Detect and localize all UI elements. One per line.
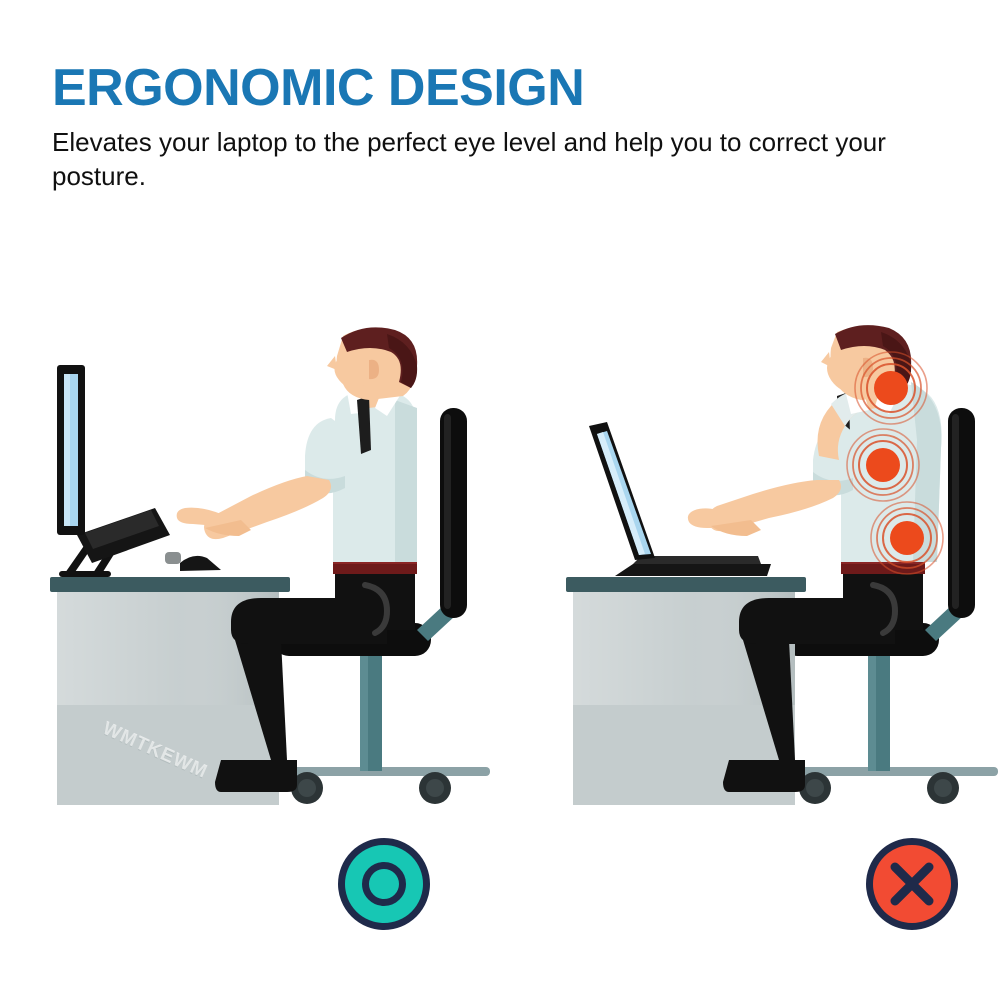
chair-base-bar [290, 767, 490, 776]
hand [177, 508, 221, 526]
mouse-body [180, 556, 221, 571]
chair-backrest-highlight [952, 414, 959, 609]
hip [843, 570, 923, 630]
laptop-on-stand [57, 365, 170, 577]
chair-base-bar [798, 767, 998, 776]
scene-bad-posture [555, 330, 1000, 820]
nose [327, 356, 337, 370]
correct-posture-illustration [35, 330, 505, 820]
laptop-screen-glare [64, 374, 70, 526]
nose [821, 352, 831, 367]
target-circle-icon [362, 862, 406, 906]
x-mark-icon [885, 857, 939, 911]
page-subtitle: Elevates your laptop to the perfect eye … [52, 126, 932, 194]
torso-shirt-shadow [395, 400, 417, 562]
correct-badge [338, 838, 430, 930]
chair-cylinder-highlight [360, 643, 368, 771]
header: ERGONOMIC DESIGN Elevates your laptop to… [52, 62, 952, 194]
shoe [215, 760, 297, 792]
stand-foot [59, 571, 111, 577]
infographic-poster: ERGONOMIC DESIGN Elevates your laptop to… [0, 0, 1000, 1000]
chair-cylinder-highlight [868, 643, 876, 771]
laptop-base [615, 564, 771, 576]
pain-core [874, 371, 908, 405]
desk-top [50, 577, 290, 592]
mouse-cable-knot [165, 552, 181, 564]
pain-core [866, 448, 900, 482]
chair-caster-front-hub [298, 779, 316, 797]
page-title: ERGONOMIC DESIGN [52, 62, 952, 114]
chair-caster-front-hub [806, 779, 824, 797]
chair-backrest-highlight [444, 414, 451, 609]
chair-caster-rear-hub [934, 779, 952, 797]
mouse-device [165, 552, 221, 571]
chair-caster-rear-hub [426, 779, 444, 797]
pain-core [890, 521, 924, 555]
laptop-screen-glare [597, 432, 645, 555]
shoe [723, 760, 805, 792]
hip [335, 570, 415, 630]
desk-top [566, 577, 806, 592]
incorrect-badge [866, 838, 958, 930]
scene-correct-posture [35, 330, 505, 820]
bad-posture-illustration [555, 330, 1000, 820]
